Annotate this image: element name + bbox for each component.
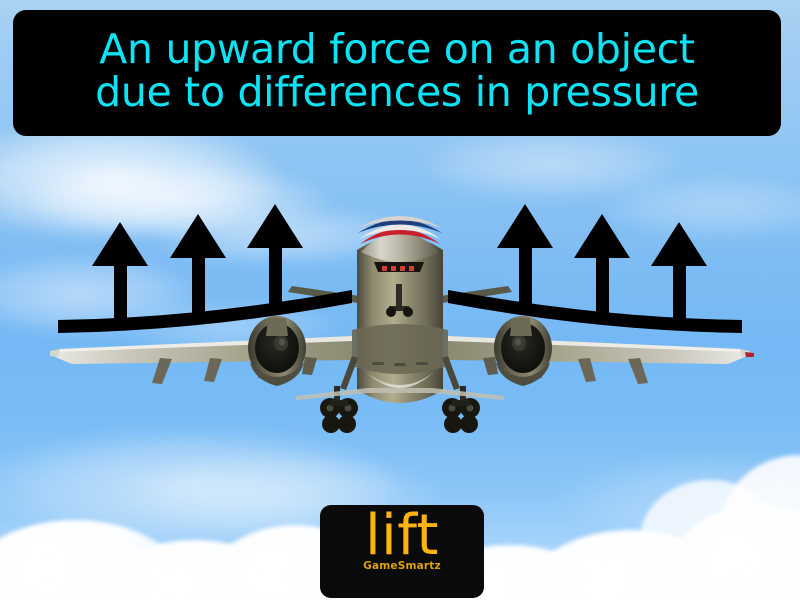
- lift-definition-image: An upward force on an object due to diff…: [0, 0, 800, 600]
- watermark-text: GameSmartz: [363, 560, 441, 572]
- definition-banner: An upward force on an object due to diff…: [13, 10, 781, 136]
- term-label: lift GameSmartz: [320, 505, 484, 598]
- definition-line-1: An upward force on an object: [99, 28, 694, 71]
- definition-line-2: due to differences in pressure: [95, 71, 699, 114]
- term-text: lift: [365, 507, 439, 566]
